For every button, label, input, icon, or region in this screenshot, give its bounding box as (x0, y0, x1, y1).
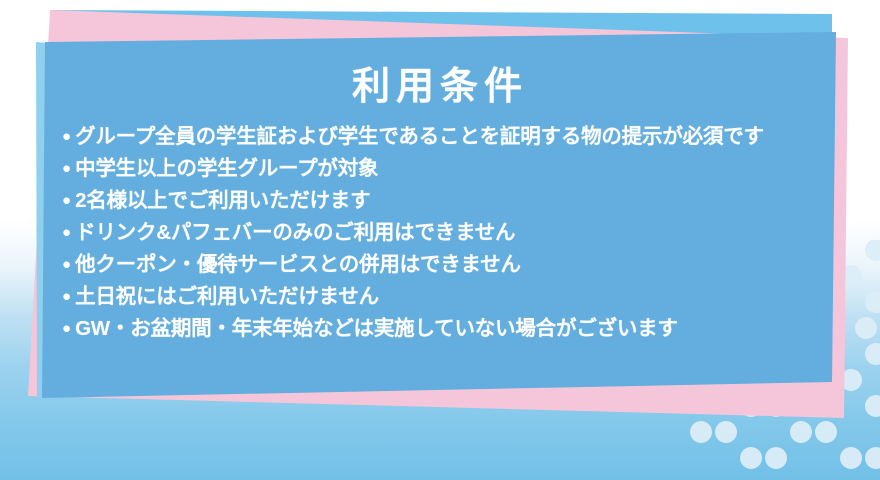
bullet-dot-icon: ● (62, 122, 71, 152)
bullet-dot-icon: ● (62, 282, 71, 312)
conditions-list: ● グループ全員の学生証および学生であることを証明する物の提示が必須です ● 中… (62, 122, 862, 346)
list-item: ● ドリンク&パフェバーのみのご利用はできません (62, 218, 862, 250)
list-item: ● 中学生以上の学生グループが対象 (62, 154, 862, 186)
promo-banner: 利用条件 ● グループ全員の学生証および学生であることを証明する物の提示が必須で… (0, 0, 880, 480)
page-title: 利用条件 (0, 68, 880, 106)
list-item-label: 2名様以上でご利用いただけます (75, 186, 370, 216)
list-item-label: ドリンク&パフェバーのみのご利用はできません (75, 218, 515, 248)
card-content: 利用条件 ● グループ全員の学生証および学生であることを証明する物の提示が必須で… (0, 0, 880, 480)
bullet-dot-icon: ● (62, 314, 71, 344)
list-item-label: GW・お盆期間・年末年始などは実施していない場合がございます (75, 314, 678, 344)
list-item: ● 2名様以上でご利用いただけます (62, 186, 862, 218)
list-item-label: 他クーポン・優待サービスとの併用はできません (75, 250, 521, 280)
bullet-dot-icon: ● (62, 154, 71, 184)
list-item: ● 土日祝にはご利用いただけません (62, 282, 862, 314)
bullet-dot-icon: ● (62, 186, 71, 216)
list-item-label: グループ全員の学生証および学生であることを証明する物の提示が必須です (75, 122, 764, 152)
list-item: ● グループ全員の学生証および学生であることを証明する物の提示が必須です (62, 122, 862, 154)
list-item: ● 他クーポン・優待サービスとの併用はできません (62, 250, 862, 282)
list-item-label: 中学生以上の学生グループが対象 (75, 154, 378, 184)
list-item-label: 土日祝にはご利用いただけません (75, 282, 379, 312)
bullet-dot-icon: ● (62, 218, 71, 248)
list-item: ● GW・お盆期間・年末年始などは実施していない場合がございます (62, 314, 862, 346)
bullet-dot-icon: ● (62, 250, 71, 280)
